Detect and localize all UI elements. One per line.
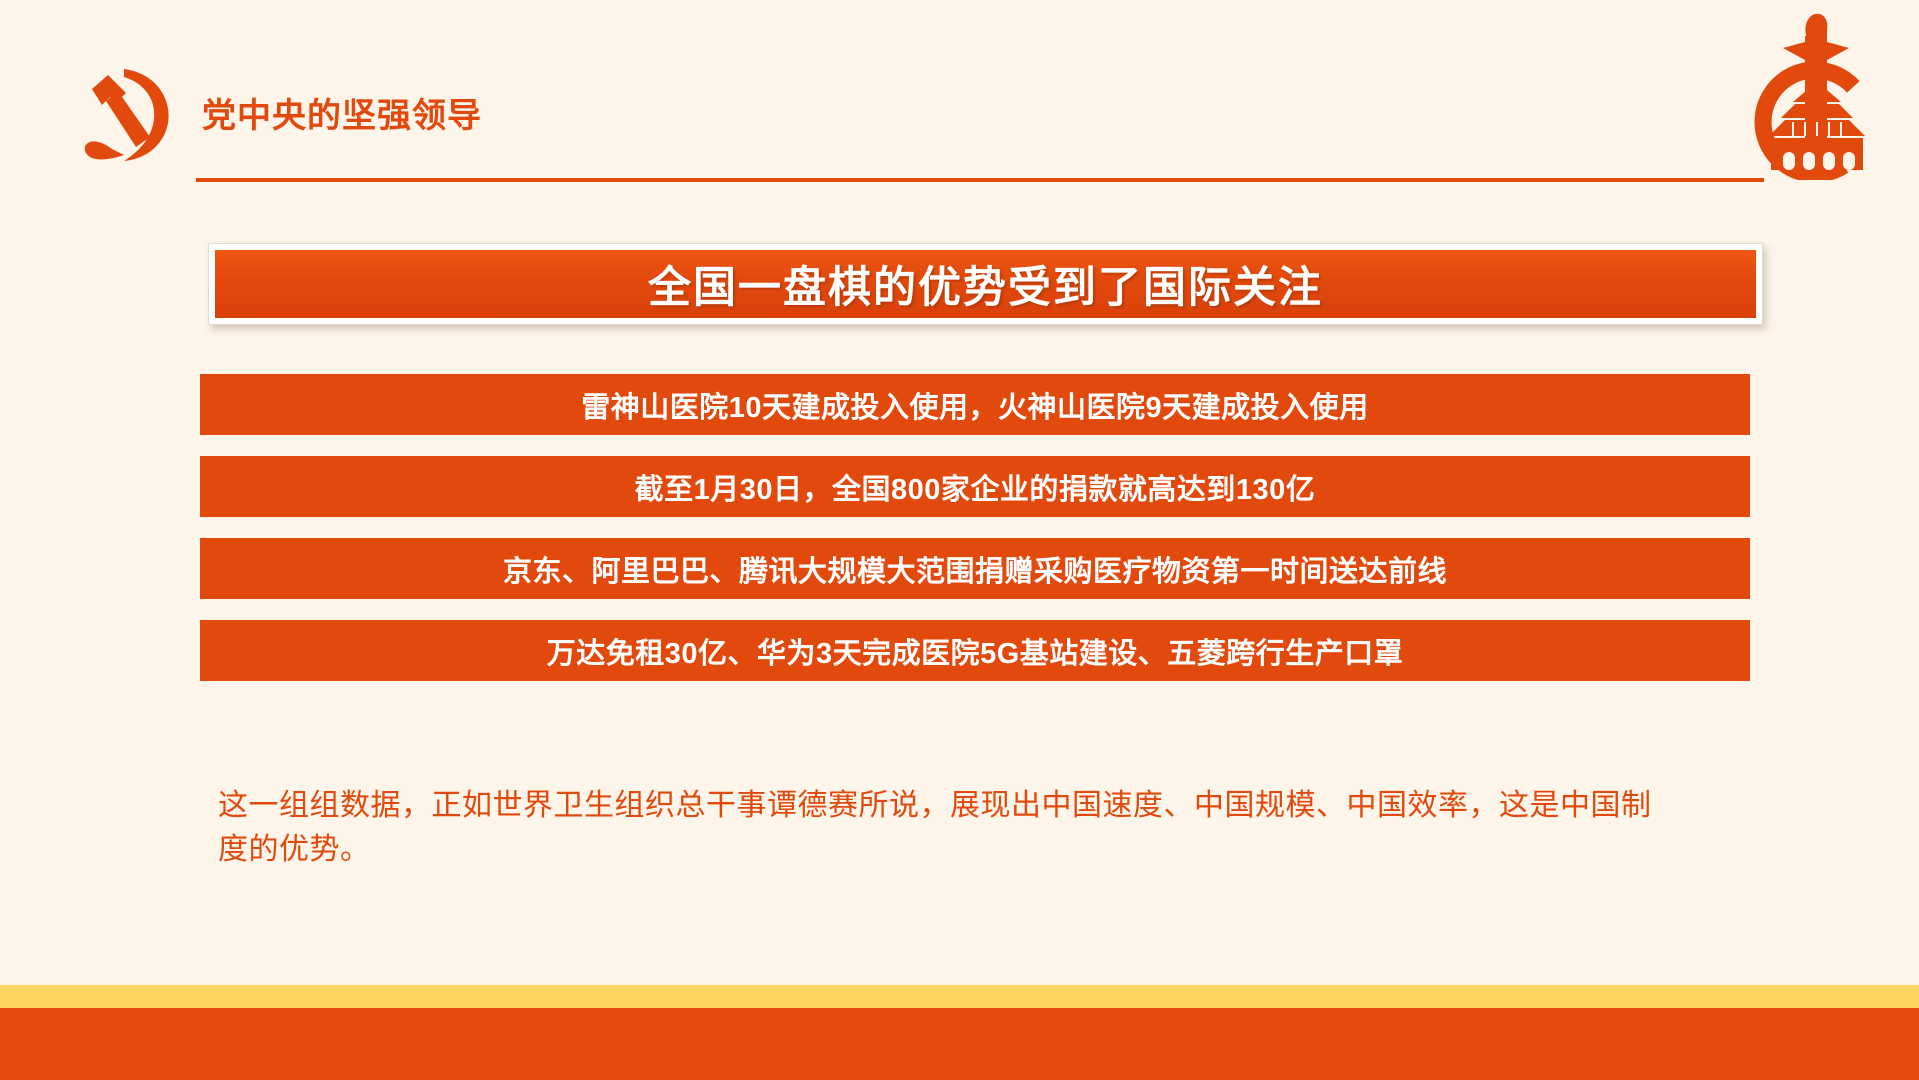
content-row-3: 京东、阿里巴巴、腾讯大规模大范围捐赠采购医疗物资第一时间送达前线 <box>200 538 1750 599</box>
content-rows: 雷神山医院10天建成投入使用，火神山医院9天建成投入使用 截至1月30日，全国8… <box>200 374 1750 702</box>
footnote-paragraph: 这一组组数据，正如世界卫生组织总干事谭德赛所说，展现出中国速度、中国规模、中国效… <box>218 784 1678 871</box>
content-row-2: 截至1月30日，全国800家企业的捐款就高达到130亿 <box>200 456 1750 517</box>
content-row-3-text: 京东、阿里巴巴、腾讯大规模大范围捐赠采购医疗物资第一时间送达前线 <box>503 548 1447 590</box>
content-row-2-text: 截至1月30日，全国800家企业的捐款就高达到130亿 <box>635 466 1316 508</box>
footer-orange-band <box>0 1008 1919 1080</box>
content-row-4-text: 万达免租30亿、华为3天完成医院5G基站建设、五菱跨行生产口罩 <box>547 630 1404 672</box>
footer-gold-band <box>0 985 1919 1008</box>
title-banner-inner: 全国一盘棋的优势受到了国际关注 <box>215 250 1756 318</box>
slide-root: 党中央的坚强领导 <box>0 0 1919 1080</box>
content-row-1: 雷神山医院10天建成投入使用，火神山医院9天建成投入使用 <box>200 374 1750 435</box>
content-row-4: 万达免租30亿、华为3天完成医院5G基站建设、五菱跨行生产口罩 <box>200 620 1750 681</box>
title-banner: 全国一盘棋的优势受到了国际关注 <box>208 243 1763 325</box>
content-row-1-text: 雷神山医院10天建成投入使用，火神山医院9天建成投入使用 <box>581 384 1368 426</box>
slide-header: 党中央的坚强领导 <box>0 0 1919 200</box>
title-banner-text: 全国一盘棋的优势受到了国际关注 <box>648 253 1323 315</box>
tiananmen-huabiao-icon <box>1749 8 1881 180</box>
header-divider <box>196 178 1764 182</box>
page-title: 党中央的坚强领导 <box>202 88 482 137</box>
hammer-sickle-icon <box>72 65 180 165</box>
